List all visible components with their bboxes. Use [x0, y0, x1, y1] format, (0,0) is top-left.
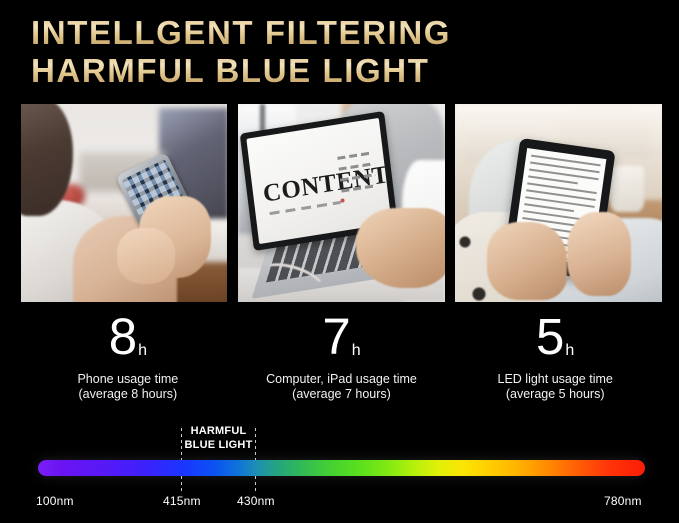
tick-label-780nm: 780nm [604, 494, 642, 508]
stat-phone-unit: h [138, 343, 147, 362]
photo-person-using-smartphone [21, 104, 227, 302]
harmful-label-line-2: BLUE LIGHT [181, 439, 256, 453]
photo-person-using-laptop: CONTENT [238, 104, 445, 302]
photo-person-using-tablet [455, 104, 662, 302]
stat-led-usage: 5 h LED light usage time (average 5 hour… [448, 312, 662, 416]
stat-led-value-row: 5 h [536, 312, 574, 362]
stat-computer-value-row: 7 h [322, 312, 360, 362]
tick-label-415nm: 415nm [163, 494, 201, 508]
stat-phone-sub: (average 8 hours) [21, 387, 235, 402]
photo-strip: CONTENT [21, 104, 662, 302]
stat-computer-unit: h [352, 343, 361, 362]
stat-phone-usage: 8 h Phone usage time (average 8 hours) [21, 312, 235, 416]
stat-led-sub: (average 5 hours) [448, 387, 662, 402]
spectrum-gradient-bar [38, 460, 645, 476]
laptop-screen-sidebar-lines [337, 151, 378, 200]
product-infographic-page: INTELLGENT FILTERING HARMFUL BLUE LIGHT [0, 0, 679, 523]
title-line-1: INTELLGENT FILTERING [31, 14, 651, 52]
harmful-label-line-1: HARMFUL [181, 425, 256, 439]
supporting-hand [487, 222, 567, 300]
stat-computer-usage: 7 h Computer, iPad usage time (average 7… [235, 312, 449, 416]
stat-led-label: LED light usage time [448, 372, 662, 387]
stat-led-unit: h [565, 343, 574, 362]
harmful-blue-light-label: HARMFUL BLUE LIGHT [181, 425, 256, 452]
usage-statistics: 8 h Phone usage time (average 8 hours) 7… [21, 312, 662, 416]
stat-computer-sub: (average 7 hours) [235, 387, 449, 402]
stat-phone-number: 8 [109, 312, 136, 362]
person-fingers [117, 228, 175, 284]
cup [610, 166, 644, 212]
holding-hand [567, 212, 631, 296]
title-line-2: HARMFUL BLUE LIGHT [31, 52, 651, 90]
tick-label-100nm: 100nm [36, 494, 74, 508]
stat-computer-number: 7 [322, 312, 349, 362]
stat-computer-label: Computer, iPad usage time [235, 372, 449, 387]
light-spectrum-diagram: HARMFUL BLUE LIGHT 100nm 415nm 430nm 780… [0, 420, 679, 523]
stat-phone-label: Phone usage time [21, 372, 235, 387]
laptop-scene: CONTENT [238, 104, 445, 302]
stat-led-number: 5 [536, 312, 563, 362]
tick-label-430nm: 430nm [237, 494, 275, 508]
stat-phone-value-row: 8 h [109, 312, 147, 362]
page-title: INTELLGENT FILTERING HARMFUL BLUE LIGHT [31, 14, 651, 90]
typing-hand [356, 208, 445, 288]
smartphone-scene [21, 104, 227, 302]
tablet-scene [455, 104, 662, 302]
